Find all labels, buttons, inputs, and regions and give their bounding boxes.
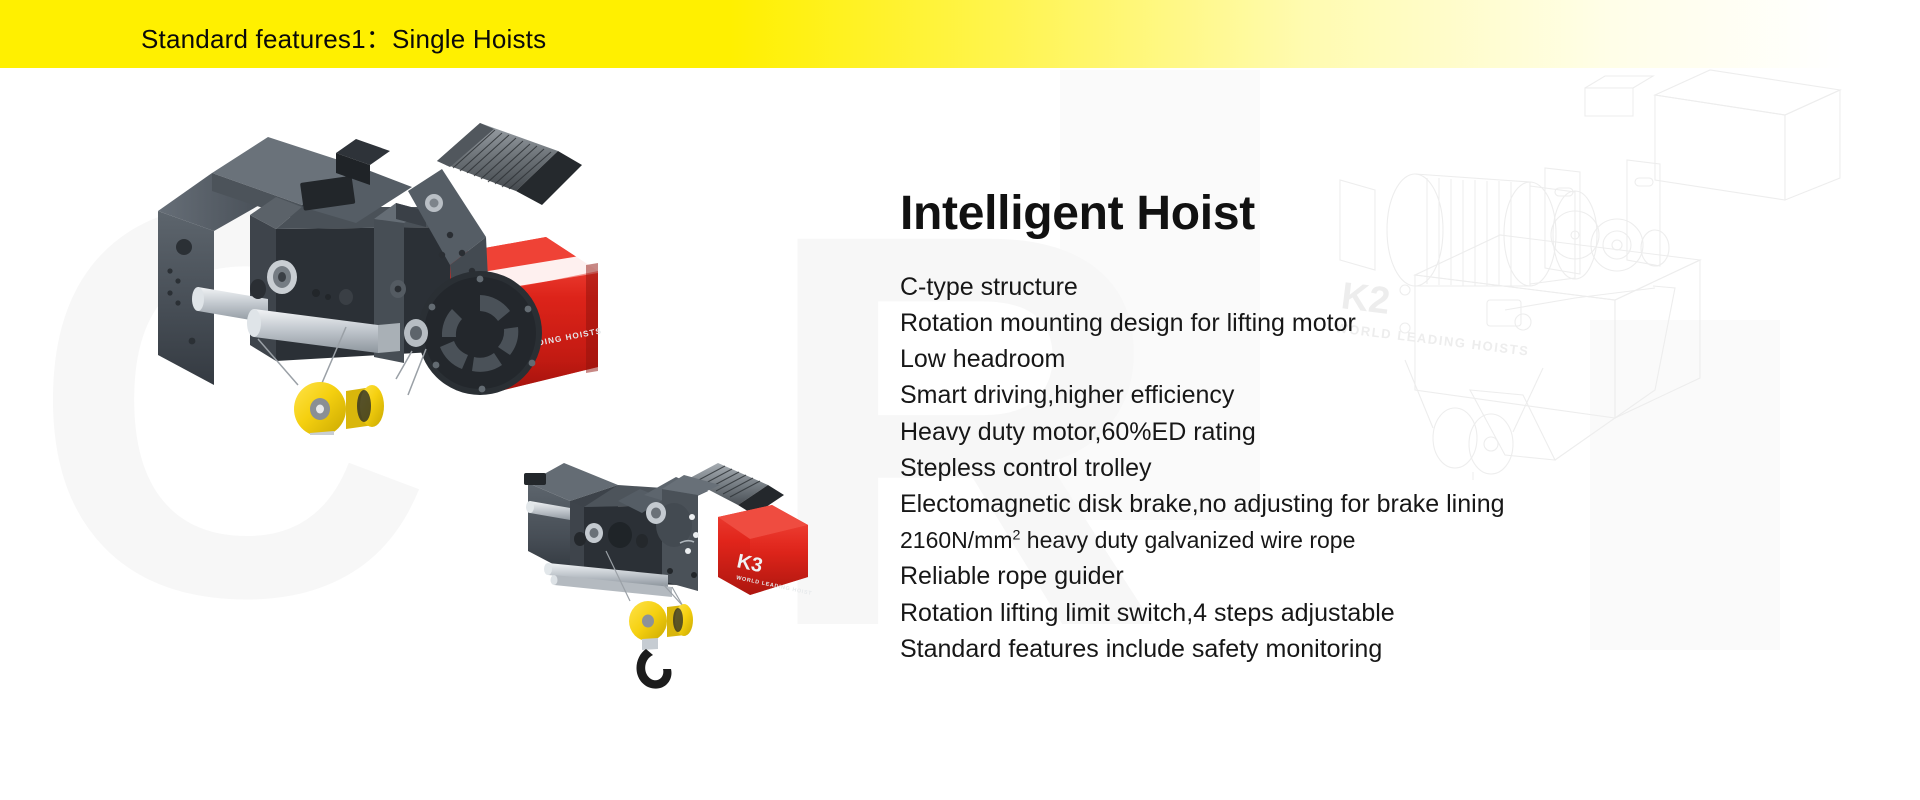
feature-item: Smart driving,higher efficiency [900, 377, 1860, 413]
feature-item: Electomagnetic disk brake,no adjusting f… [900, 486, 1860, 522]
feature-item: C-type structure [900, 269, 1860, 305]
slide-root: C R [0, 0, 1920, 800]
superscript-two: 2 [1012, 528, 1020, 544]
banner-title: Standard features1：Single Hoists [141, 19, 546, 56]
feature-item: Rotation mounting design for lifting mot… [900, 305, 1860, 341]
feature-item: Stepless control trolley [900, 450, 1860, 486]
feature-item: Standard features include safety monitor… [900, 631, 1860, 667]
product-image-k3: K3 WORLD LEADING HOISTS [522, 455, 812, 715]
feature-item: Low headroom [900, 341, 1860, 377]
content-column: Intelligent Hoist C-type structureRotati… [900, 188, 1860, 667]
product-image-k4: K4 WORLD LEADING HOISTS [150, 95, 620, 435]
feature-list: C-type structureRotation mounting design… [900, 269, 1860, 667]
feature-item: Reliable rope guider [900, 558, 1860, 594]
feature-item: Heavy duty motor,60%ED rating [900, 414, 1860, 450]
page-title: Intelligent Hoist [900, 188, 1860, 241]
feature-item: 2160N/mm2 heavy duty galvanized wire rop… [900, 522, 1860, 558]
feature-item: Rotation lifting limit switch,4 steps ad… [900, 595, 1860, 631]
header-banner: Standard features1：Single Hoists [0, 0, 1920, 68]
